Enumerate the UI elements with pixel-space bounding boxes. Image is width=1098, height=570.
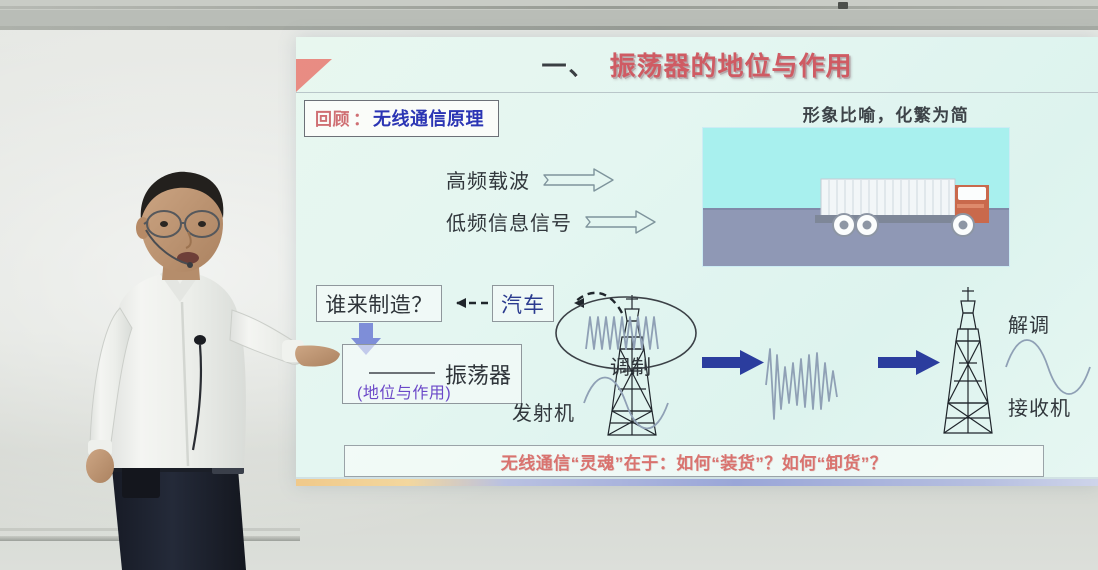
review-label: 回顾 [315,105,350,130]
slide-footer-gradient-bar [296,479,1098,486]
transmitter-label: 发射机 [512,397,575,426]
car-box: 汽车 [492,285,554,322]
who-makes-it-label: 谁来制造？ [325,289,433,319]
oscillator-sublabel: (地位与作用) [357,379,451,403]
truck-illustration-panel [702,127,1010,267]
modulate-label: 调制 [610,351,652,380]
key-question-text: 无线通信“灵魂”在于：如何“装货”？如何“卸货”？ [501,449,888,474]
ceiling-fixture [838,2,848,9]
slide-title-bar: 一、 振荡器的地位与作用 [296,37,1098,93]
recovered-waveform [1006,340,1090,394]
demodulate-label: 解调 [1008,309,1050,338]
lecturer-figure [60,168,340,570]
modulate-arrow-icon [702,350,764,375]
baseband-label: 低频信息信号 [446,207,572,236]
oscillator-box: 振荡器 (地位与作用) [342,344,522,404]
review-callout-box: 回顾 ： 无线通信原理 [304,100,499,137]
review-topic: 无线通信原理 [373,105,484,131]
block-arrow-right-icon [542,167,616,193]
modulated-waveform [766,349,837,419]
headset-mic-capsule [187,262,193,268]
metaphor-heading: 形象比喻，化繁为简 [736,101,1036,126]
dashed-link-car-to-who [456,298,488,308]
projected-slide: 一、 振荡器的地位与作用 回顾 ： 无线通信原理 形象比喻，化繁为简 [296,37,1098,486]
shirt [106,272,246,468]
block-arrow-right-icon [584,209,658,235]
baseband-signal-row: 低频信息信号 [446,207,658,236]
lapel-microphone [194,335,206,345]
title-number: 一、 [541,47,595,83]
truck-icon [703,128,1011,268]
oscillator-label: 振荡器 [445,358,511,390]
dashed-link-tower-to-car [574,293,622,313]
key-question-banner: 无线通信“灵魂”在于：如何“装货”？如何“卸货”？ [344,445,1044,477]
oscillator-leader-line [369,372,435,374]
page-title: 振荡器的地位与作用 [610,46,853,83]
carrier-waveform [586,317,658,349]
ceiling-rail-secondary [0,26,1098,30]
right-eye [198,221,206,227]
receiver-tower-icon [944,287,992,433]
review-colon: ： [353,105,370,130]
left-eye [160,221,168,227]
car-label: 汽车 [501,289,545,319]
carrier-signal-row: 高频载波 [446,165,616,194]
ceiling-rail [0,6,1098,9]
transmit-arrow-icon [878,350,940,375]
carrier-label: 高频载波 [446,165,530,194]
baseband-waveform [584,378,668,429]
left-hand [86,449,114,483]
lecturer [60,168,340,570]
receiver-label: 接收机 [1008,392,1071,421]
right-hand-pointing [295,345,340,366]
